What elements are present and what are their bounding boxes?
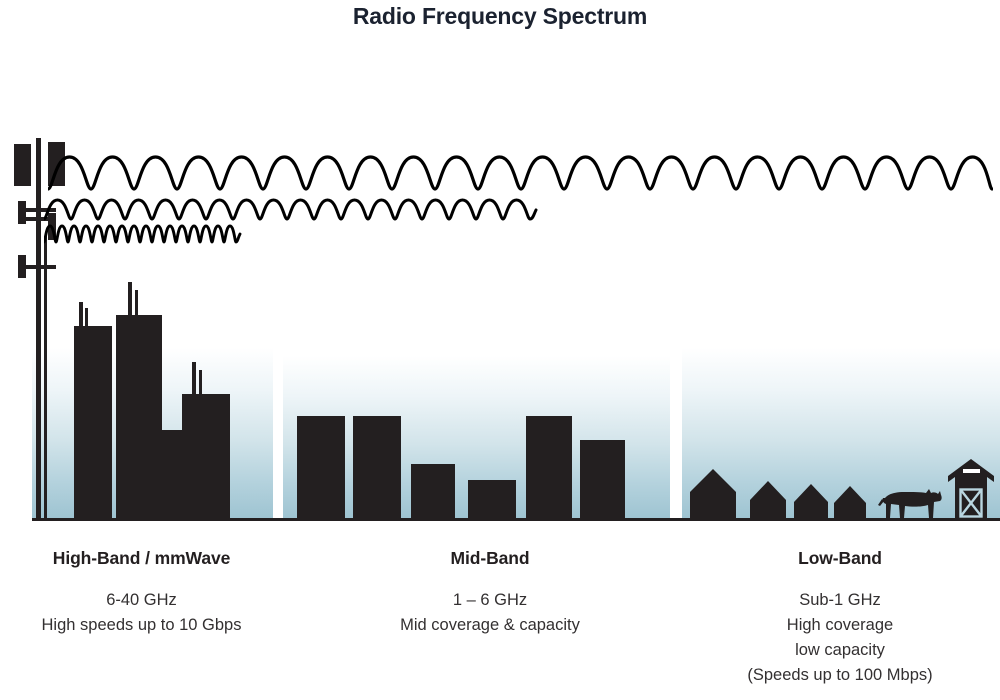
band-description-mid: Mid coverage & capacity [300,613,680,638]
antenna-panel-mid-band-left [18,201,26,224]
band-frequency-mid: 1 – 6 GHz [300,588,680,613]
band-name-mid: Mid-Band [300,548,680,569]
barn-icon [948,459,994,518]
infographic-canvas: Radio Frequency Spectrum [0,0,1000,700]
band-frequency-high: 6-40 GHz [0,588,283,613]
band-frequency-low: Sub-1 GHz [680,588,1000,613]
rural-farm-skyline-icon [682,455,1000,520]
long-wavelength-wave-icon [48,152,993,198]
cow-icon [878,489,942,518]
page-title: Radio Frequency Spectrum [0,3,1000,30]
suburban-skyline-icon [283,400,673,520]
band-description-low: High coverage [680,613,1000,638]
band-name-high: High-Band / mmWave [0,548,283,569]
tower-crossarm-lower [22,265,56,269]
short-wavelength-wave-icon [44,222,244,248]
antenna-panel-high-band [18,255,26,278]
band-name-low: Low-Band [680,548,1000,569]
band-extra-low-2: (Speeds up to 100 Mbps) [680,663,1000,688]
dense-city-skyline-icon [32,280,277,520]
band-caption-high: High-Band / mmWave 6-40 GHz High speeds … [0,548,283,638]
band-extra-low-1: low capacity [680,638,1000,663]
band-caption-mid: Mid-Band 1 – 6 GHz Mid coverage & capaci… [300,548,680,638]
band-caption-low: Low-Band Sub-1 GHz High coverage low cap… [680,548,1000,688]
band-description-high: High speeds up to 10 Gbps [0,613,283,638]
antenna-panel-low-band-left [14,144,31,186]
